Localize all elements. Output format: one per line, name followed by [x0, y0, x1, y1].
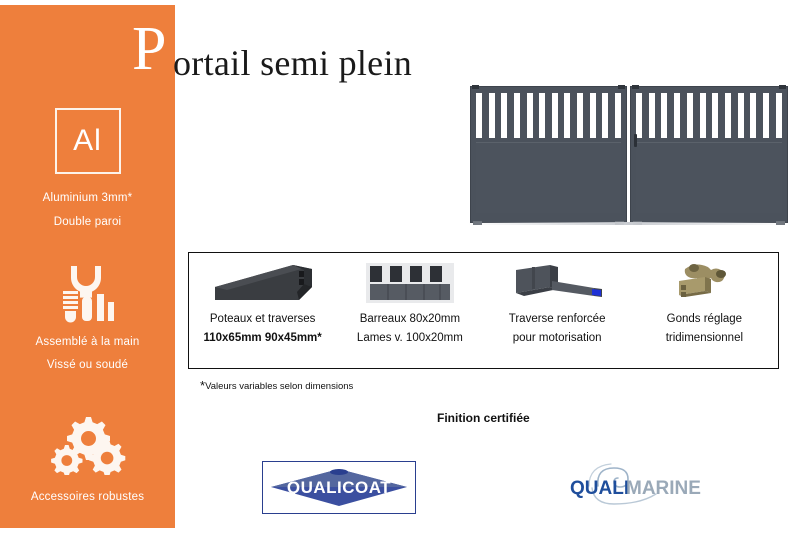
aluminium-square-icon: Al: [0, 108, 175, 174]
gate-leaf-left-panel: [476, 142, 621, 213]
gate-leaf-right-bars: [636, 93, 782, 138]
qualicoat-logo: QUALICOAT: [262, 461, 416, 514]
wrench-assembly-icon: [0, 264, 175, 324]
product-item-motorisation: Traverse renforcée pour motorisation: [484, 253, 631, 368]
qualimarine-logo: QUALI MARINE: [562, 462, 710, 510]
portail-semi-plein-illustration: [470, 86, 788, 223]
product-item-barreaux-line1: Barreaux 80x20mm: [360, 313, 460, 325]
gate-leaf-right-panel: [636, 142, 782, 213]
gate-leaf-left-bars: [476, 93, 621, 138]
certification-heading: Finition certifiée: [437, 411, 530, 425]
feature-sidebar: Al Aluminium 3mm* Double paroi: [0, 5, 175, 528]
qualicoat-logo-text: QUALICOAT: [287, 478, 391, 497]
gate-shadow: [468, 222, 790, 225]
product-item-gonds-line1: Gonds réglage: [667, 313, 742, 325]
product-item-poteaux-line1: Poteaux et traverses: [210, 313, 315, 325]
product-item-barreaux-line2: Lames v. 100x20mm: [357, 332, 463, 344]
product-details-box: Poteaux et traverses 110x65mm 90x45mm*: [188, 252, 779, 369]
gears-icon: [0, 413, 175, 475]
product-item-gonds-line2: tridimensionnel: [666, 332, 743, 344]
footnote-text: Valeurs variables selon dimensions: [205, 381, 353, 392]
gate-leaf-right: [630, 86, 788, 223]
sidebar-feature-aluminium-line1: Aluminium 3mm*: [0, 190, 175, 208]
sidebar-feature-accessories: Accessoires robustes: [0, 413, 175, 507]
product-item-gonds: Gonds réglage tridimensionnel: [631, 253, 778, 368]
qualimarine-logo-text-strong: QUALI: [570, 478, 629, 499]
slide-root: Al Aluminium 3mm* Double paroi: [0, 0, 800, 534]
gate-handle-icon: [634, 134, 637, 147]
footnote: *Valeurs variables selon dimensions: [200, 381, 353, 392]
sidebar-feature-assembly-line2: Vissé ou soudé: [0, 357, 175, 375]
product-item-poteaux: Poteaux et traverses 110x65mm 90x45mm*: [189, 253, 336, 368]
barreaux-panel-icon: [362, 259, 458, 307]
hinge-bracket-icon: [665, 259, 743, 307]
product-item-poteaux-line2: 110x65mm 90x45mm*: [203, 332, 321, 344]
sidebar-feature-aluminium-line2: Double paroi: [0, 214, 175, 232]
sidebar-feature-accessories-line1: Accessoires robustes: [0, 489, 175, 507]
product-item-motorisation-line2: pour motorisation: [513, 332, 602, 344]
aluminium-badge-label: Al: [73, 124, 102, 158]
motorisation-crossbar-icon: [502, 259, 612, 307]
sidebar-feature-aluminium: Al Aluminium 3mm* Double paroi: [0, 108, 175, 232]
qualimarine-logo-text-light: MARINE: [626, 478, 701, 499]
sidebar-feature-assembly-line1: Assemblé à la main: [0, 334, 175, 352]
page-title-capital: P: [132, 18, 166, 80]
aluminium-profile-icon: [209, 259, 317, 307]
product-item-barreaux: Barreaux 80x20mm Lames v. 100x20mm: [336, 253, 483, 368]
gate-leaf-left: [470, 86, 627, 223]
page-title-rest: ortail semi plein: [173, 45, 412, 81]
product-item-motorisation-line1: Traverse renforcée: [509, 313, 606, 325]
sidebar-feature-assembly: Assemblé à la main Vissé ou soudé: [0, 264, 175, 376]
